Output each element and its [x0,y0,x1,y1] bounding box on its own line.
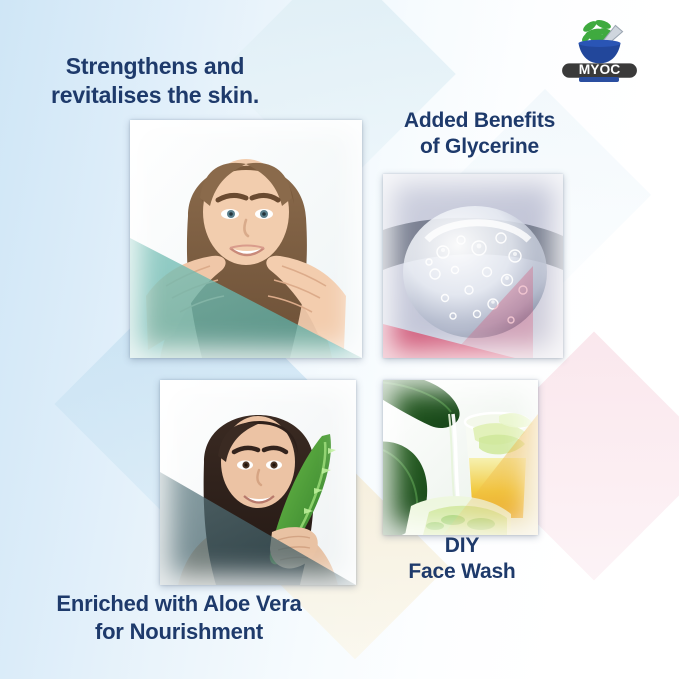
heading-added-benefits-glycerine: Added Benefits of Glycerine [372,108,587,161]
logo-wordmark: MYOC [579,61,621,77]
glycerine-gel-droplet-photo [383,174,563,358]
tile-diy-photo [383,380,538,535]
product-infographic-canvas: MYOC Strengthens and revitalises the ski… [0,0,679,679]
tile-aloe-photo [160,380,356,585]
mortar-bowl-leaves-icon: MYOC [558,16,640,82]
tile-skin-photo [130,120,362,358]
aloe-gel-poured-into-glass-photo [383,380,538,535]
myoc-logo: MYOC [558,16,640,82]
woman-holding-aloe-vera-leaf-photo [160,380,356,585]
woman-touching-face-photo [130,120,362,358]
heading-strengthens-skin: Strengthens and revitalises the skin. [0,52,310,110]
tile-glycerine-photo [383,174,563,358]
heading-enriched-aloe-vera: Enriched with Aloe Vera for Nourishment [14,590,344,645]
heading-diy-face-wash: DIY Face Wash [372,533,552,586]
logo-underline-bar [579,77,619,82]
